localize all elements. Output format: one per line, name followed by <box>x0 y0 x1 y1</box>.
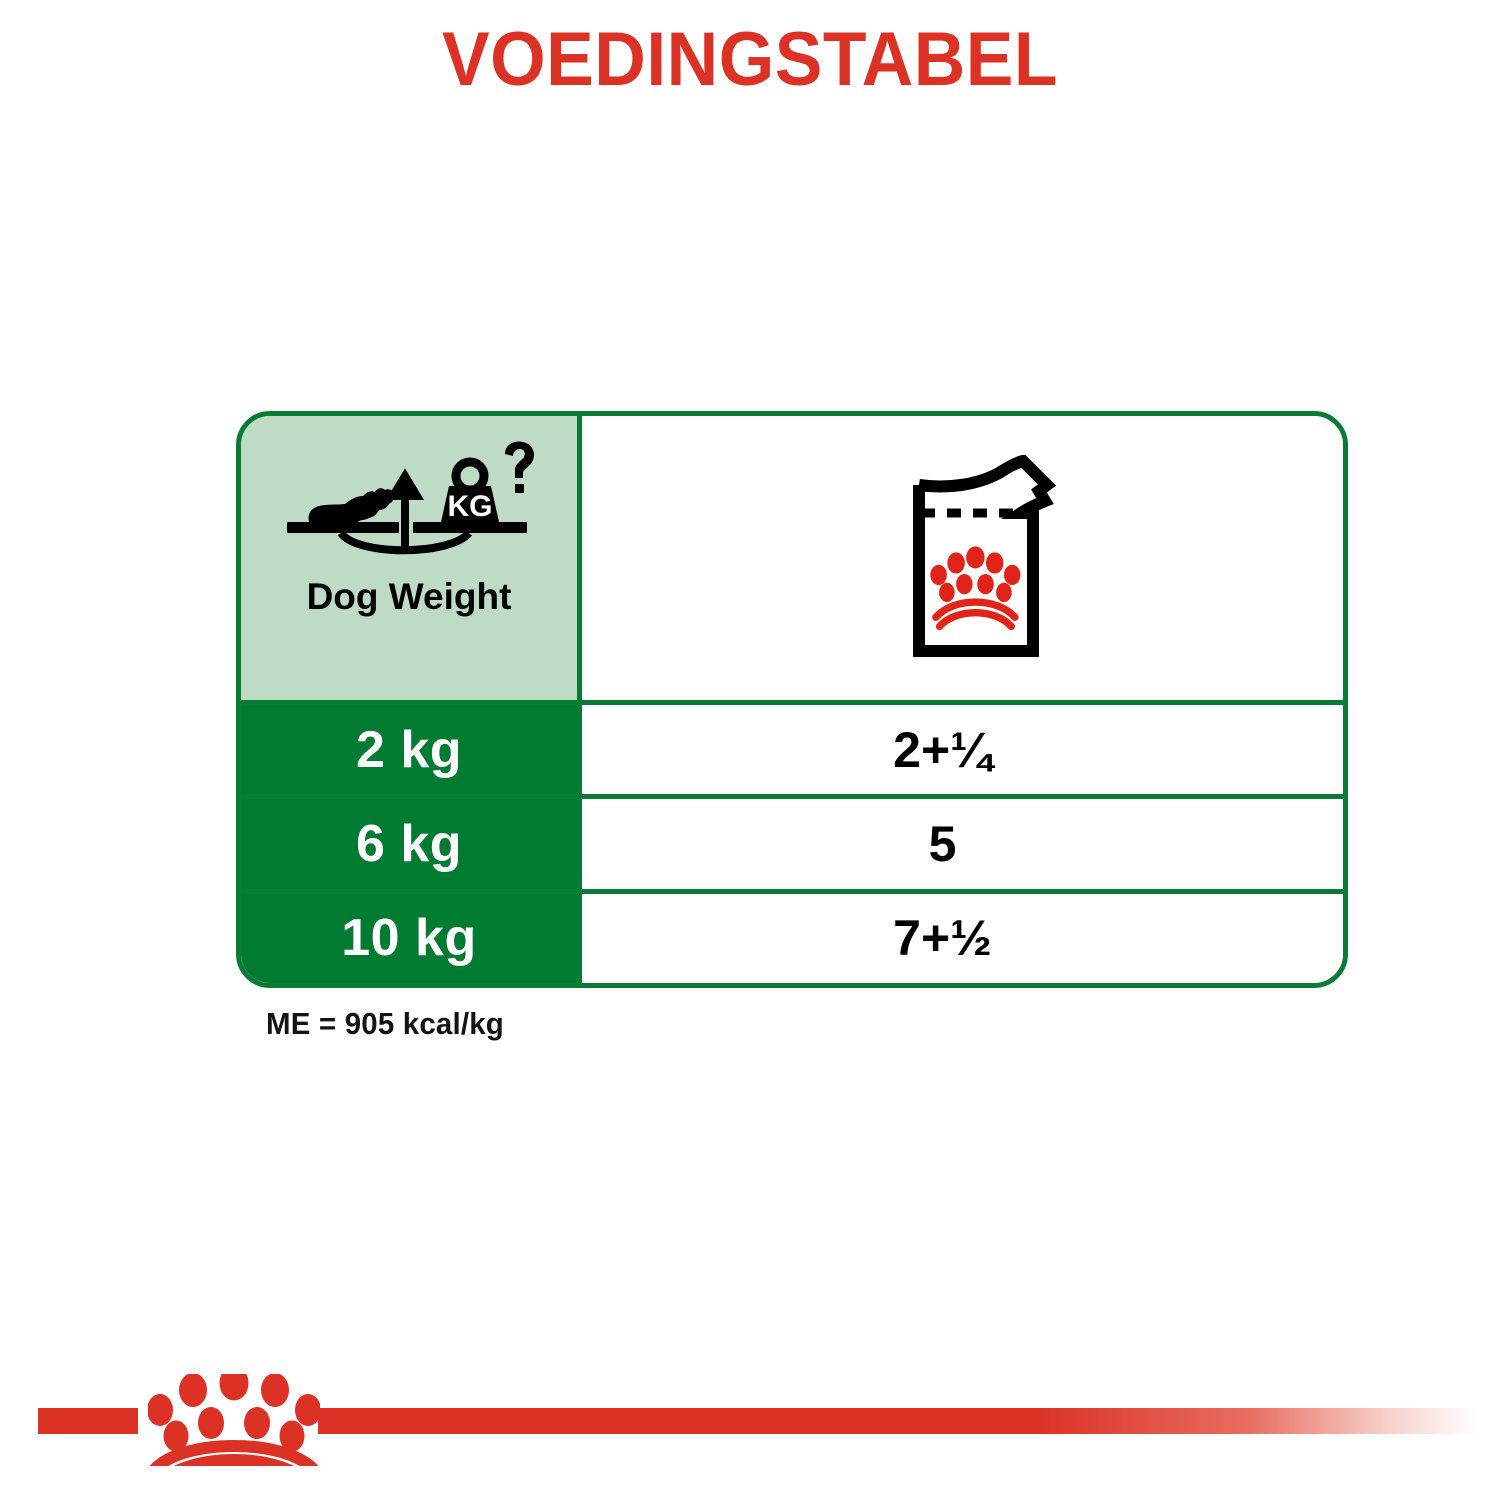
cell-pouch-quantity: 2+¼ <box>582 705 1343 794</box>
footer-bar-left <box>38 1408 138 1434</box>
food-pouch-icon <box>907 455 1061 661</box>
table-row: 6 kg 5 <box>241 794 1343 888</box>
dog-weight-scale-icon: KG <box>279 440 539 558</box>
svg-text:KG: KG <box>448 490 493 523</box>
cell-dog-weight: 2 kg <box>241 705 582 794</box>
table-header-pouch <box>582 416 1343 700</box>
page-title: VOEDINGSTABEL <box>45 16 1455 104</box>
table-row: 10 kg 7+½ <box>241 889 1343 983</box>
cell-dog-weight: 6 kg <box>241 799 582 888</box>
cell-pouch-quantity: 7+½ <box>582 894 1343 983</box>
footer-bar-right <box>318 1408 1478 1434</box>
feeding-table: KG Dog Weight <box>236 411 1348 988</box>
footer <box>0 1380 1500 1500</box>
table-header-dog-weight: KG Dog Weight <box>241 416 582 700</box>
cell-dog-weight: 10 kg <box>241 894 582 983</box>
royal-canin-crown-icon <box>148 1374 320 1466</box>
table-row: 2 kg 2+¼ <box>241 705 1343 794</box>
cell-pouch-quantity: 5 <box>582 799 1343 888</box>
metabolisable-energy-note: ME = 905 kcal/kg <box>266 1006 504 1042</box>
table-header-dog-weight-label: Dog Weight <box>307 578 512 615</box>
table-header-row: KG Dog Weight <box>241 416 1343 700</box>
table-body: 2 kg 2+¼ 6 kg 5 10 kg 7+½ <box>241 700 1343 983</box>
